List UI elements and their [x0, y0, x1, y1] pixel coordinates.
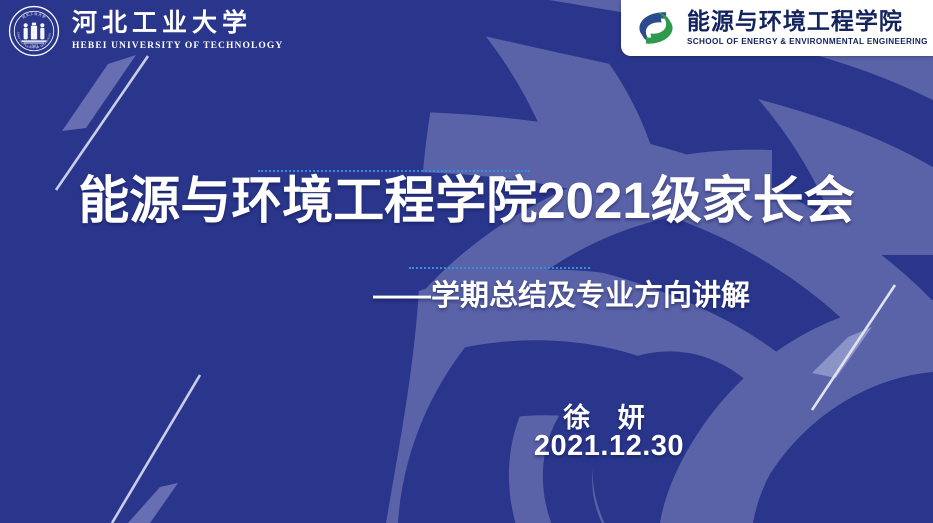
presentation-date: 2021.12.30 — [0, 430, 933, 463]
presentation-title-slide: 1903 河北工业大学 HEBEI UNIVERSITY OF TECHNOLO… — [0, 0, 933, 523]
university-logo: 1903 河北工业大学 HEBEI UNIVERSITY OF TECHNOLO… — [0, 0, 301, 62]
school-name-cn: 能源与环境工程学院 — [687, 10, 923, 33]
university-name-cn: 河北工业大学 — [72, 11, 283, 37]
slide-subtitle: ——学期总结及专业方向讲解 — [0, 280, 933, 313]
hbut-seal-icon: 1903 河北工业大学 HEBEI UNIVERSITY OF TECHNOLO… — [8, 5, 60, 57]
dotted-rule-above-subtitle — [409, 267, 590, 269]
slide-title: 能源与环境工程学院2021级家长会 — [0, 172, 933, 229]
school-swirl-leaf-icon — [633, 5, 679, 51]
school-logo: 能源与环境工程学院 SCHOOL OF ENERGY & ENVIRONMENT… — [621, 0, 933, 56]
school-name-en: SCHOOL OF ENERGY & ENVIRONMENTAL ENGINEE… — [687, 38, 928, 46]
svg-text:河北工业大学: 河北工业大学 — [21, 11, 47, 20]
university-name-en: HEBEI UNIVERSITY OF TECHNOLOGY — [72, 41, 283, 51]
